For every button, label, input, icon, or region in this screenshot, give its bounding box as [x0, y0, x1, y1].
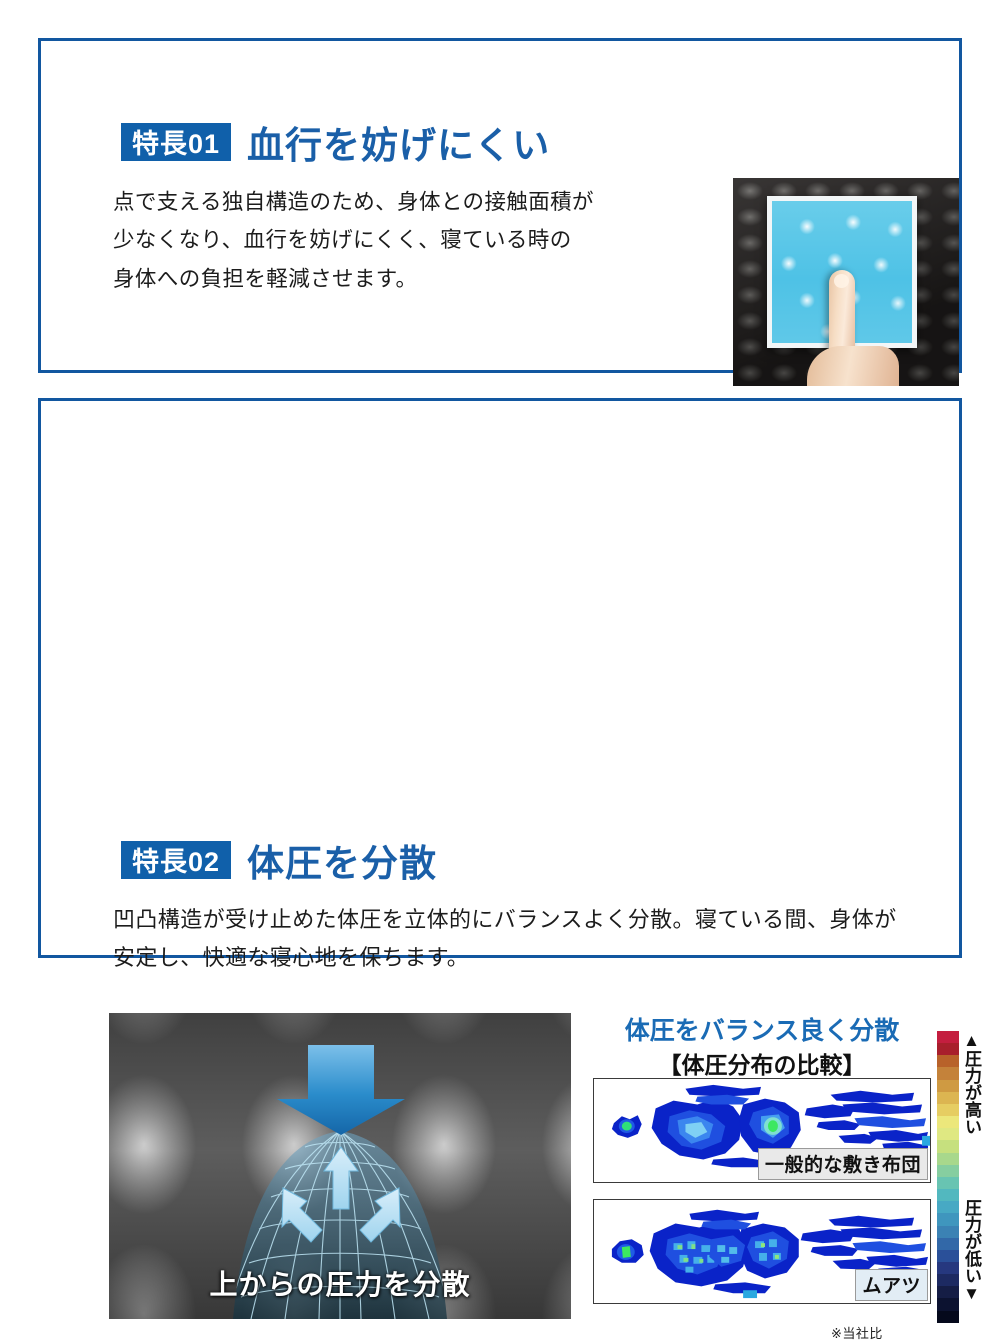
infographic-page: 特長01 血行を妨げにくい 点で支える独自構造のため、身体との接触面積が 少なく… — [0, 0, 1000, 1000]
footnote: ※当社比 — [831, 1323, 941, 1342]
legend-color-bar — [937, 1031, 959, 1323]
legend-swatch — [937, 1311, 959, 1323]
legend-swatch — [937, 1140, 959, 1152]
legend-swatch — [937, 1128, 959, 1140]
photo-caption: 上からの圧力を分散 — [109, 1263, 571, 1303]
feature-01-heading: 特長01 血行を妨げにくい — [121, 115, 550, 169]
feature-02-body: 凹凸構造が受け止めた体圧を立体的にバランスよく分散。寝ている間、身体が 安定し、… — [113, 901, 993, 977]
downward-pressure-arrow — [277, 1045, 405, 1135]
legend-swatch — [937, 1286, 959, 1298]
pressure-dispersion-photo: 上からの圧力を分散 — [109, 1013, 571, 1319]
feature-02-badge: 特長02 — [121, 841, 231, 879]
feature-02-heading: 特長02 体圧を分散 — [121, 833, 437, 887]
legend-swatch — [937, 1274, 959, 1286]
feature-02-title: 体圧を分散 — [247, 833, 437, 887]
legend-swatch — [937, 1153, 959, 1165]
pressure-section-subtitle: 【体圧分布の比較】 — [597, 1046, 927, 1080]
legend-swatch — [937, 1298, 959, 1310]
feature-01-photo — [733, 178, 959, 386]
legend-swatch — [937, 1189, 959, 1201]
legend-swatch — [937, 1165, 959, 1177]
legend-swatch — [937, 1080, 959, 1092]
feature-01-body: 点で支える独自構造のため、身体との接触面積が 少なくなり、血行を妨げにくく、寝て… — [113, 183, 713, 298]
heatmap-label-muatsu: ムアツ — [855, 1269, 928, 1301]
legend-swatch — [937, 1213, 959, 1225]
heatmap-panel-general-futon: 一般的な敷き布団 — [593, 1078, 931, 1183]
legend-swatch — [937, 1067, 959, 1079]
legend-high-label: ▲圧力が高い — [963, 1031, 980, 1135]
legend-swatch — [937, 1177, 959, 1189]
legend-swatch — [937, 1201, 959, 1213]
heatmap-label-general: 一般的な敷き布団 — [758, 1148, 928, 1180]
legend-swatch — [937, 1055, 959, 1067]
hand — [807, 346, 899, 386]
legend-swatch — [937, 1226, 959, 1238]
legend-swatch — [937, 1238, 959, 1250]
feature-card-01: 特長01 血行を妨げにくい 点で支える独自構造のため、身体との接触面積が 少なく… — [38, 38, 962, 373]
legend-swatch — [937, 1116, 959, 1128]
legend-swatch — [937, 1262, 959, 1274]
legend-swatch — [937, 1031, 959, 1043]
legend-swatch — [937, 1043, 959, 1055]
heatmap-panel-muatsu: ムアツ — [593, 1199, 931, 1304]
legend-swatch — [937, 1092, 959, 1104]
legend-swatch — [937, 1104, 959, 1116]
feature-card-02: 特長02 体圧を分散 凹凸構造が受け止めた体圧を立体的にバランスよく分散。寝てい… — [38, 398, 962, 958]
legend-low-label: 圧力が低い▼ — [963, 1199, 980, 1303]
legend-swatch — [937, 1250, 959, 1262]
pressure-section-title: 体圧をバランス良く分散 — [597, 1011, 927, 1047]
pressure-legend: ▲圧力が高い 圧力が低い▼ — [937, 1031, 1000, 1323]
feature-01-title: 血行を妨げにくい — [247, 115, 550, 169]
feature-01-badge: 特長01 — [121, 123, 231, 161]
